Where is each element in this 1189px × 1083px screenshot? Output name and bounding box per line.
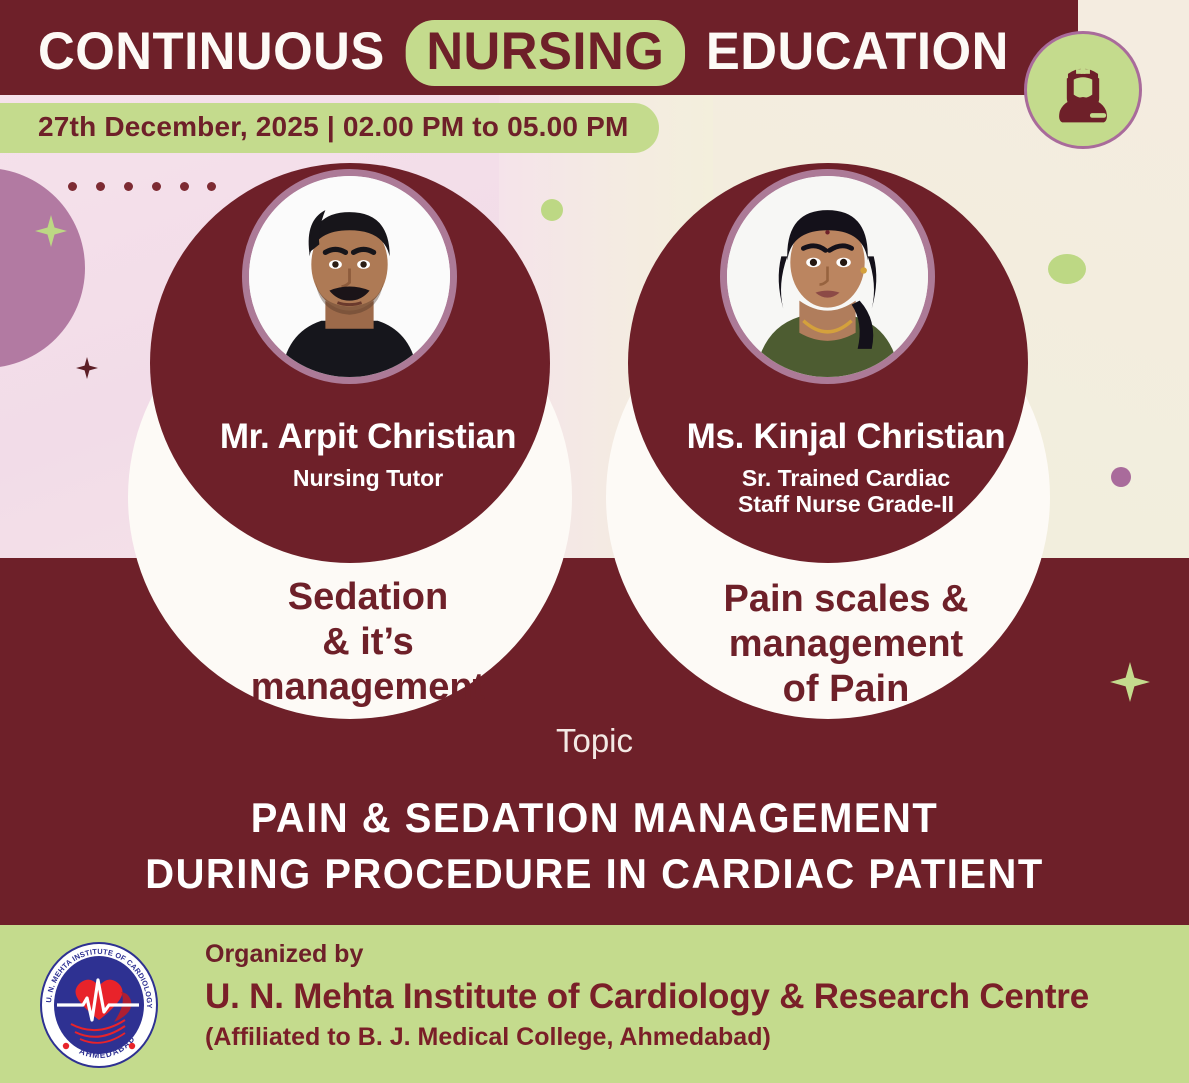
speaker-1-name: Mr. Arpit Christian [118,417,618,457]
decorative-sparkle-maroon [76,357,98,379]
page-title: CONTINUOUS NURSING EDUCATION [38,20,1009,86]
nurse-badge [1024,31,1142,149]
page-title-part2: EDUCATION [706,22,1009,81]
speaker-1-topic: Sedation& it’smanagement [118,575,618,709]
speaker-card-2: Ms. Kinjal Christian Sr. Trained Cardiac… [596,163,1096,723]
speaker-card-1: Mr. Arpit Christian Nursing Tutor Sedati… [118,163,618,723]
poster-root: CONTINUOUS NURSING EDUCATION 27th Decemb… [0,0,1189,1083]
organization-affiliation: (Affiliated to B. J. Medical College, Ah… [205,1023,1089,1052]
decorative-dot [96,182,105,191]
institute-logo: U. N. MEHTA INSTITUTE OF CARDIOLOGY & RE… [35,938,163,1071]
event-headline-line-1: PAIN & SEDATION MANAGEMENT [30,790,1160,846]
decorative-sparkle-green [35,215,67,247]
organized-by-label: Organized by [205,940,1089,969]
decorative-sparkle-green-2 [1110,662,1150,702]
page-title-part1: CONTINUOUS [38,22,385,81]
speaker-2-name: Ms. Kinjal Christian [596,417,1096,457]
topic-label: Topic [0,722,1189,760]
speaker-1-role: Nursing Tutor [118,465,618,491]
event-headline: PAIN & SEDATION MANAGEMENT DURING PROCED… [30,790,1160,902]
speaker-2-role: Sr. Trained CardiacStaff Nurse Grade-II [596,465,1096,518]
organizer-block: Organized by U. N. Mehta Institute of Ca… [205,940,1089,1052]
speaker-1-avatar [242,169,457,384]
decorative-purple-dot [1111,467,1131,487]
decorative-dot [68,182,77,191]
organization-name: U. N. Mehta Institute of Cardiology & Re… [205,977,1089,1017]
page-title-highlight: NURSING [405,20,685,86]
event-headline-line-2: DURING PROCEDURE IN CARDIAC PATIENT [30,846,1160,902]
event-datetime-badge: 27th December, 2025 | 02.00 PM to 05.00 … [0,103,659,153]
speaker-2-avatar [720,169,935,384]
nurse-icon [1046,53,1120,127]
speaker-2-topic: Pain scales &managementof Pain [596,577,1096,711]
